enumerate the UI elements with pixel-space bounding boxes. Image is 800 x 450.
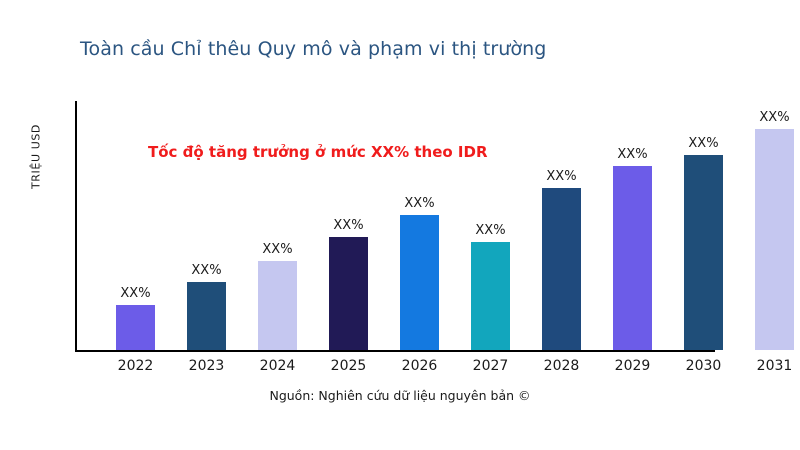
bar-2027[interactable]: [471, 242, 510, 350]
x-tick-2029: 2029: [597, 358, 668, 374]
bar-2030[interactable]: [684, 155, 723, 350]
bar-group-2026[interactable]: XX%: [384, 185, 455, 350]
y-axis-label: TRIỆU USD: [30, 97, 43, 217]
bar-value-label-2023: XX%: [171, 263, 242, 278]
bar-group-2022[interactable]: XX%: [100, 275, 171, 350]
x-tick-2024: 2024: [242, 358, 313, 374]
bar-group-2024[interactable]: XX%: [242, 231, 313, 350]
bar-value-label-2027: XX%: [455, 223, 526, 238]
bar-value-label-2028: XX%: [526, 169, 597, 184]
bar-2023[interactable]: [187, 282, 226, 350]
plot-area: XX%XX%XX%XX%XX%XX%XX%XX%XX%XX%: [75, 100, 800, 352]
bar-value-label-2026: XX%: [384, 196, 455, 211]
bar-2028[interactable]: [542, 188, 581, 350]
bar-group-2031[interactable]: XX%: [739, 99, 800, 350]
bar-2025[interactable]: [329, 237, 368, 350]
bar-group-2027[interactable]: XX%: [455, 212, 526, 350]
bar-value-label-2025: XX%: [313, 218, 384, 233]
x-tick-2025: 2025: [313, 358, 384, 374]
chart-title: Toàn cầu Chỉ thêu Quy mô và phạm vi thị …: [80, 38, 546, 60]
x-tick-2028: 2028: [526, 358, 597, 374]
bar-group-2023[interactable]: XX%: [171, 252, 242, 350]
x-tick-2031: 2031: [739, 358, 800, 374]
bar-value-label-2030: XX%: [668, 136, 739, 151]
source-caption: Nguồn: Nghiên cứu dữ liệu nguyên bản ©: [0, 388, 800, 403]
bar-2026[interactable]: [400, 215, 439, 350]
bar-value-label-2031: XX%: [739, 110, 800, 125]
x-tick-2023: 2023: [171, 358, 242, 374]
bar-group-2029[interactable]: XX%: [597, 136, 668, 350]
bar-value-label-2024: XX%: [242, 242, 313, 257]
bar-2024[interactable]: [258, 261, 297, 350]
chart-container: Toàn cầu Chỉ thêu Quy mô và phạm vi thị …: [0, 0, 800, 450]
x-tick-2022: 2022: [100, 358, 171, 374]
bar-2029[interactable]: [613, 166, 652, 350]
bar-value-label-2029: XX%: [597, 147, 668, 162]
bar-2031[interactable]: [755, 129, 794, 350]
bar-value-label-2022: XX%: [100, 286, 171, 301]
x-tick-2030: 2030: [668, 358, 739, 374]
bar-2022[interactable]: [116, 305, 155, 350]
x-tick-2027: 2027: [455, 358, 526, 374]
x-tick-2026: 2026: [384, 358, 455, 374]
bar-group-2028[interactable]: XX%: [526, 158, 597, 350]
bar-group-2030[interactable]: XX%: [668, 125, 739, 350]
bar-group-2025[interactable]: XX%: [313, 207, 384, 350]
